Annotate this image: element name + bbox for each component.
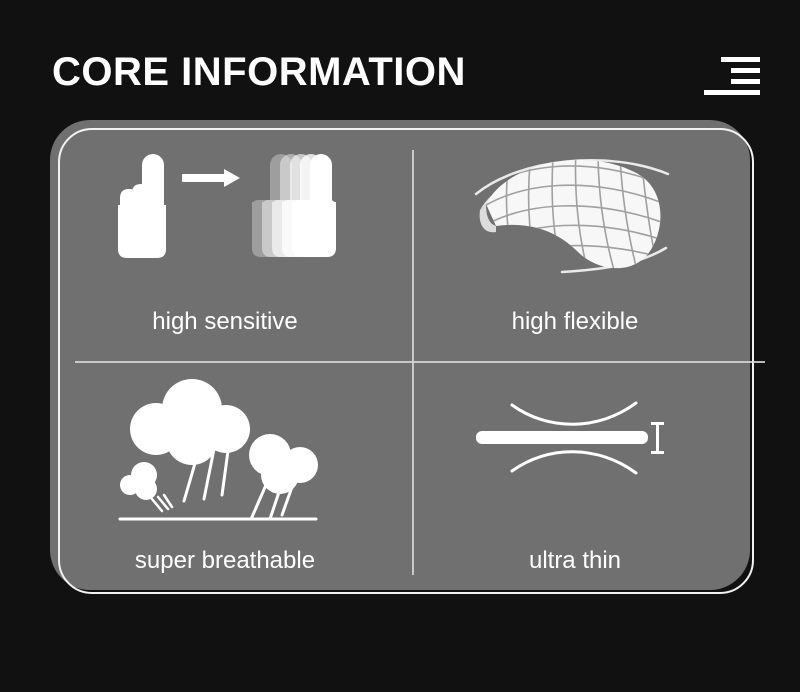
- feature-cell-high-sensitive[interactable]: high sensitive: [50, 120, 400, 355]
- rising-steam-clouds-icon: [50, 377, 400, 527]
- menu-lines-icon[interactable]: [704, 54, 760, 96]
- feature-label-ultra-thin: ultra thin: [400, 546, 750, 576]
- menu-line-1: [721, 57, 760, 62]
- menu-line-3: [731, 79, 760, 84]
- menu-line-4: [704, 90, 760, 95]
- bending-mesh-sheet-icon: [400, 148, 750, 288]
- feature-cell-super-breathable[interactable]: super breathable: [50, 355, 400, 590]
- feature-grid: high sensitive: [50, 120, 750, 590]
- header: CORE INFORMATION: [0, 0, 800, 120]
- menu-line-2: [731, 68, 760, 73]
- thin-bar-caliper-icon: [400, 377, 750, 527]
- feature-label-high-sensitive: high sensitive: [50, 307, 400, 337]
- feature-label-high-flexible: high flexible: [400, 307, 750, 337]
- feature-cell-ultra-thin: ultra thin: [400, 355, 750, 590]
- feature-cell-high-flexible[interactable]: high flexible: [400, 120, 750, 355]
- page-root: CORE INFORMATION: [0, 0, 800, 692]
- page-title: CORE INFORMATION: [52, 48, 466, 96]
- feature-label-super-breathable: super breathable: [50, 546, 400, 576]
- pointing-hand-motion-icon: [50, 148, 400, 288]
